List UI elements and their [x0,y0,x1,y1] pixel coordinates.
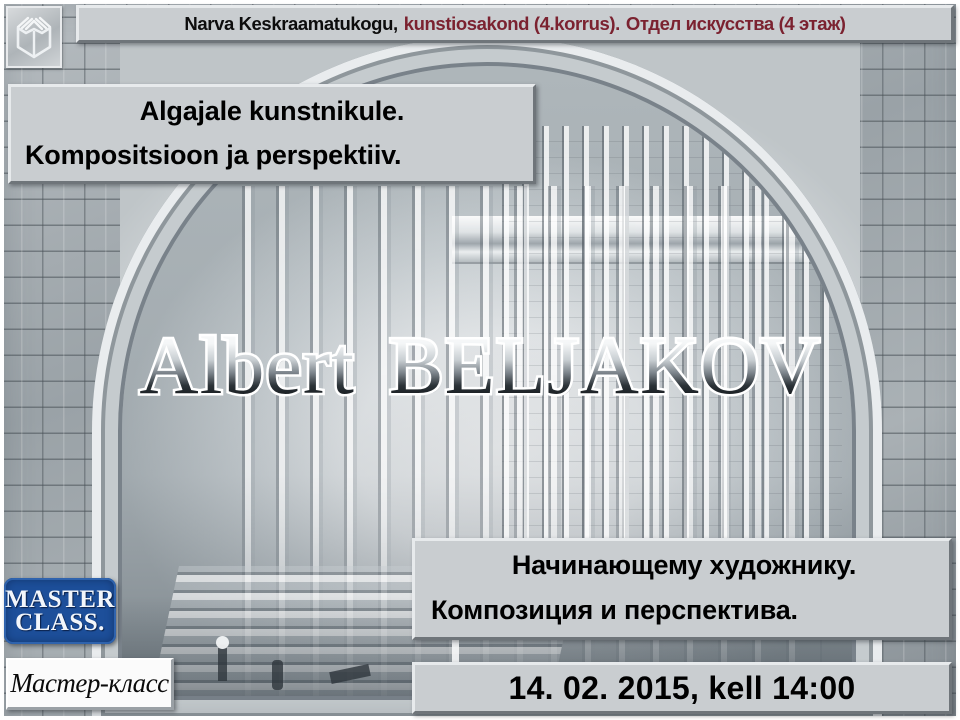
event-datetime: 14. 02. 2015, kell 14:00 [508,670,855,707]
figure-silhouette-a [218,645,227,681]
header-department-ru: Отдел искусства (4 этаж) [626,13,846,35]
event-datetime-plate: 14. 02. 2015, kell 14:00 [412,662,952,714]
header-institution: Narva Keskraamatukogu, [184,13,397,35]
header-bar: Narva Keskraamatukogu, kunstiosakond (4.… [76,5,954,43]
poster-canvas: Narva Keskraamatukogu, kunstiosakond (4.… [0,0,960,720]
title-estonian-plate: Algajale kunstnikule. Kompositsioon ja p… [8,84,536,184]
title-ru-line1: Начинающему художнику. [431,543,937,588]
title-russian-plate: Начинающему художнику. Композиция и перс… [412,538,952,640]
title-et-line1: Algajale kunstnikule. [25,89,519,133]
open-book-icon [12,13,56,61]
figure-silhouette-b [272,660,283,690]
header-department-et: kunstiosakond (4.korrus). [404,13,620,35]
masterclass-logo-line2: CLASS. [15,609,105,636]
title-et-line2: Kompositsioon ja perspektiiv. [25,133,519,177]
masterclass-logo-ru-text: Мастер-класс [10,668,168,699]
title-ru-line2: Композиция и перспектива. [431,588,937,633]
masterclass-logo-ru: Мастер-класс [6,658,174,710]
masterclass-logo-en: MASTER CLASS. [4,578,116,644]
library-logo [6,6,62,68]
figure-highlight-a [216,636,229,649]
